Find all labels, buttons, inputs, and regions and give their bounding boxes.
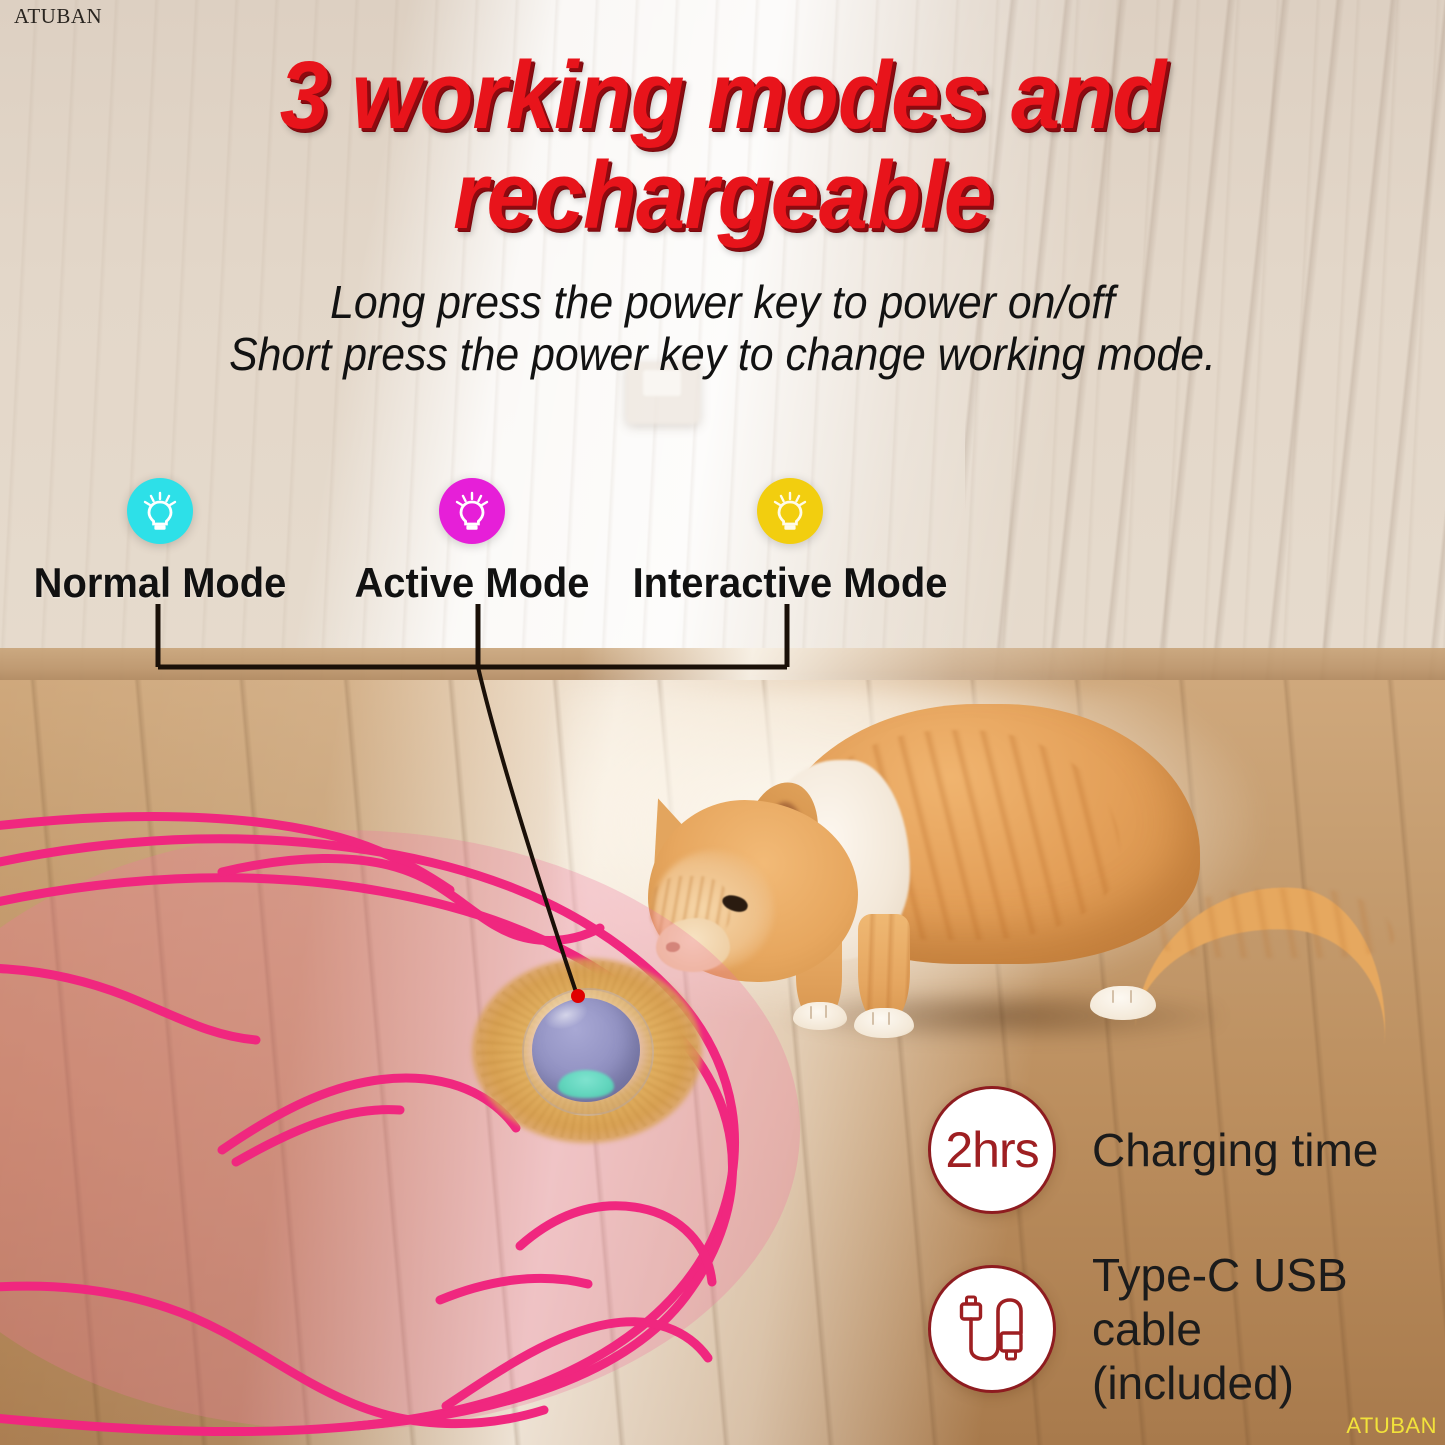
mode-active[interactable]: Active Mode bbox=[348, 478, 596, 606]
feature-usb-cable: Type-C USB cable (included) bbox=[928, 1248, 1445, 1410]
instruction-line-2: Short press the power key to change work… bbox=[51, 328, 1395, 380]
mode-normal[interactable]: Normal Mode bbox=[24, 478, 296, 606]
feature-charging-time: 2hrs Charging time bbox=[928, 1086, 1378, 1214]
cat-front-leg-right bbox=[858, 914, 910, 1022]
cat-toe-line bbox=[872, 1012, 874, 1025]
mode-normal-label: Normal Mode bbox=[31, 560, 289, 606]
charging-time-badge: 2hrs bbox=[928, 1086, 1056, 1214]
mode-active-label: Active Mode bbox=[354, 560, 590, 606]
mode-interactive-badge bbox=[757, 478, 823, 544]
lightbulb-icon bbox=[449, 488, 495, 534]
cat-toy-ball bbox=[472, 958, 702, 1148]
cat-toe-line bbox=[888, 1012, 890, 1025]
lightbulb-icon bbox=[137, 488, 183, 534]
page-title: 3 working modes and rechargeable bbox=[58, 46, 1387, 246]
watermark-top-left: ATUBAN bbox=[14, 4, 102, 29]
instructions-text: Long press the power key to power on/off… bbox=[51, 276, 1395, 380]
charging-time-value: 2hrs bbox=[945, 1121, 1038, 1179]
instruction-line-1: Long press the power key to power on/off bbox=[51, 276, 1395, 328]
mode-interactive-label: Interactive Mode bbox=[629, 560, 952, 606]
mode-interactive[interactable]: Interactive Mode bbox=[620, 478, 960, 606]
usb-cable-label: Type-C USB cable (included) bbox=[1092, 1248, 1445, 1410]
mode-normal-badge bbox=[127, 478, 193, 544]
usb-cable-icon bbox=[954, 1289, 1030, 1369]
motion-trail-overlay bbox=[0, 810, 860, 1445]
watermark-bottom-right: ATUBAN bbox=[1346, 1413, 1437, 1439]
usb-cable-badge bbox=[928, 1265, 1056, 1393]
cat-paw-hind bbox=[1090, 986, 1156, 1020]
lightbulb-icon bbox=[767, 488, 813, 534]
charging-time-label: Charging time bbox=[1092, 1123, 1378, 1177]
toy-mint-accent bbox=[558, 1070, 614, 1098]
cat-toe-line bbox=[1130, 990, 1132, 1003]
product-infographic: 3 working modes and rechargeable Long pr… bbox=[0, 0, 1445, 1445]
headline-line-1: 3 working modes and bbox=[58, 46, 1387, 146]
cat-paw-front-right bbox=[854, 1008, 914, 1038]
mode-active-badge bbox=[439, 478, 505, 544]
cat-toe-line bbox=[1112, 990, 1114, 1003]
headline-line-2: rechargeable bbox=[58, 146, 1387, 246]
